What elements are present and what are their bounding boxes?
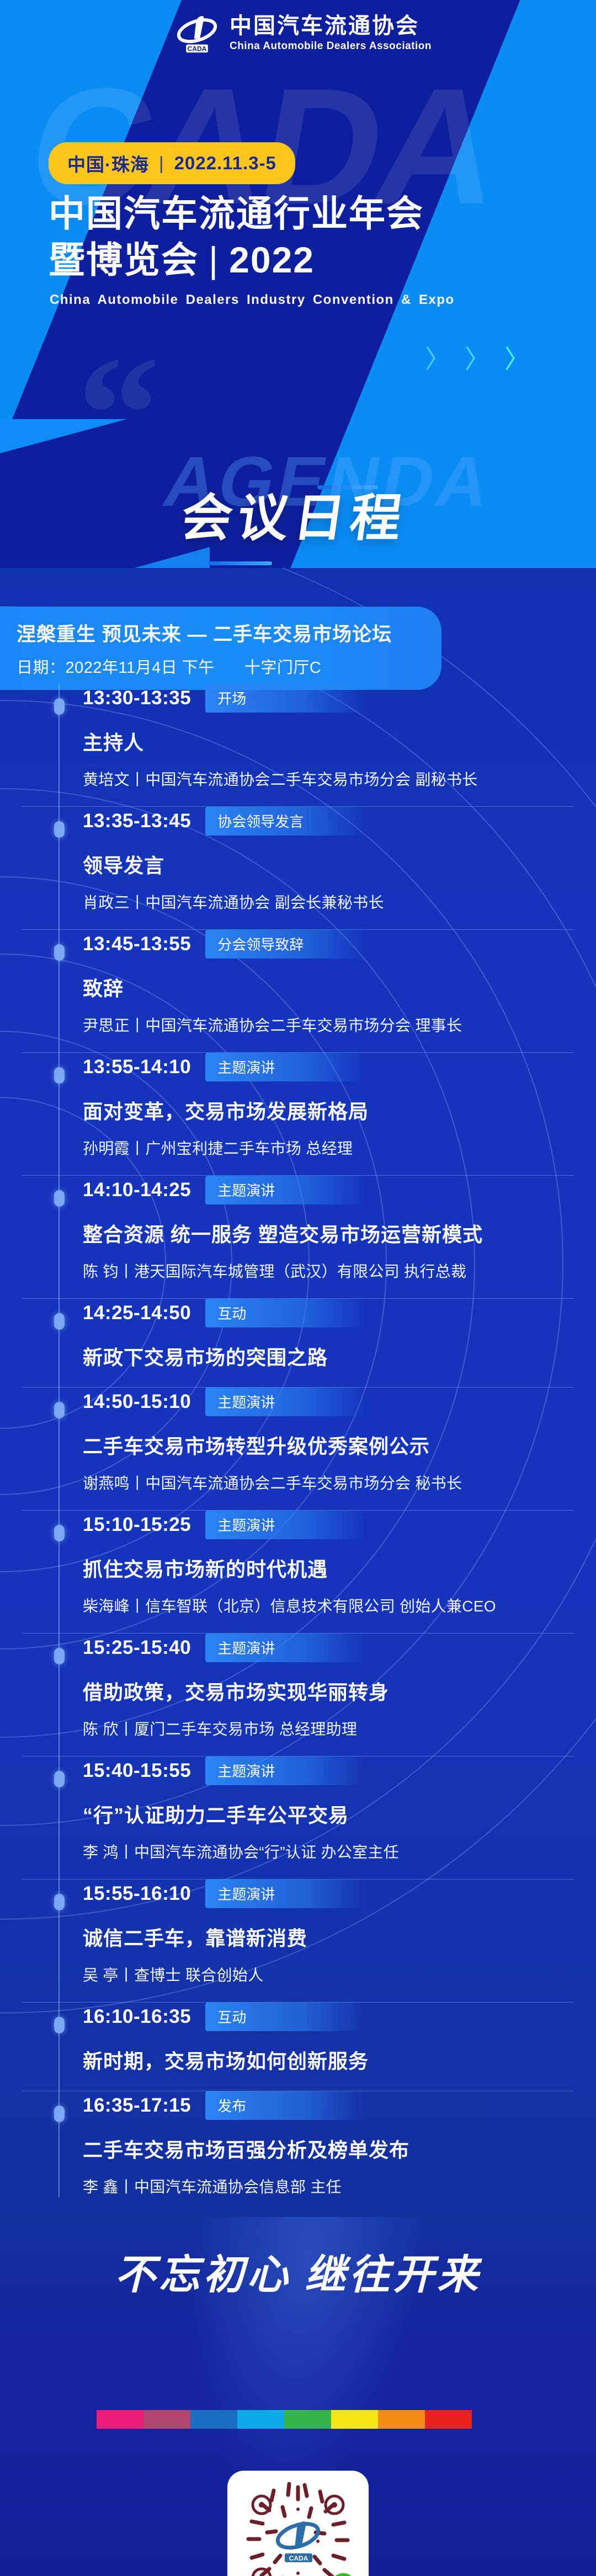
agenda-timeline: 13:30-13:35开场主持人黄培文丨中国汽车流通协会二手车交易市场分会 副秘… <box>0 684 596 2197</box>
svg-text:CADA: CADA <box>188 45 207 53</box>
agenda-item-header: 13:45-13:55分会领导致辞 <box>83 930 596 958</box>
agenda-item-time: 13:45-13:55 <box>83 933 191 955</box>
timeline-dot <box>54 2017 65 2033</box>
brand-name-en: China Automobile Dealers Association <box>230 41 432 51</box>
agenda-item-topic: 新时期，交易市场如何创新服务 <box>83 2045 596 2074</box>
agenda-item-header: 15:40-15:55主题演讲 <box>83 1756 596 1785</box>
event-title-line1: 中国汽车流通行业年会 <box>49 190 424 237</box>
agenda-item-time: 16:10-16:35 <box>83 2006 191 2028</box>
date-location-badge: 中国·珠海 | 2022.11.3-5 <box>49 142 295 184</box>
chevron-right-icon-1: 〉 <box>425 346 450 372</box>
qr-code-card[interactable]: CADA <box>227 2471 369 2576</box>
agenda-item: 13:45-13:55分会领导致辞致辞尹思正丨中国汽车流通协会二手车交易市场分会… <box>0 930 596 1036</box>
hero-banner: CADA “ CADA 中国汽车流通协会 China Automobile De… <box>0 0 596 568</box>
svg-text:CADA: CADA <box>289 2554 308 2562</box>
agenda-item: 15:25-15:40主题演讲借助政策，交易市场实现华丽转身陈 欣丨厦门二手车交… <box>0 1634 596 1739</box>
agenda-title-cn: 会议日程 <box>177 477 413 550</box>
agenda-item-topic: 借助政策，交易市场实现华丽转身 <box>83 1677 596 1705</box>
agenda-item-speaker: 李 鑫丨中国汽车流通协会信息部 主任 <box>83 2175 596 2197</box>
timeline-dot <box>54 1894 65 1910</box>
timeline-dot <box>54 1313 65 1330</box>
color-bar-segment-5 <box>284 2410 331 2429</box>
color-bar-segment-7 <box>378 2410 425 2429</box>
timeline-dot <box>54 1067 65 1084</box>
forum-venue: 十字门厅C <box>244 655 321 678</box>
wechat-miniprogram-icon[interactable] <box>330 2573 356 2576</box>
footer-section: 不忘初心 继往开来 <box>0 2217 596 2576</box>
color-bar-decoration <box>97 2410 472 2429</box>
agenda-item-tag: 互动 <box>205 1299 365 1327</box>
color-bar-segment-4 <box>237 2410 284 2429</box>
timeline-dot <box>54 1648 65 1664</box>
agenda-item-topic: 致辞 <box>83 973 596 1002</box>
agenda-item-speaker: 陈 欣丨厦门二手车交易市场 总经理助理 <box>83 1717 596 1739</box>
agenda-item-time: 14:10-14:25 <box>83 1179 191 1201</box>
color-bar-segment-2 <box>143 2410 190 2429</box>
timeline-dot <box>54 698 65 715</box>
agenda-item-tag: 协会领导发言 <box>205 807 365 836</box>
brand-header: CADA 中国汽车流通协会 China Automobile Dealers A… <box>0 0 596 66</box>
agenda-item-header: 13:55-14:10主题演讲 <box>83 1053 596 1081</box>
agenda-item-topic: 诚信二手车，靠谱新消费 <box>83 1922 596 1951</box>
event-title-line2: 暨博览会 <box>49 237 199 283</box>
agenda-item-header: 14:10-14:25主题演讲 <box>83 1176 596 1204</box>
agenda-item-time: 15:55-16:10 <box>83 1883 191 1905</box>
agenda-item-tag: 主题演讲 <box>205 1053 365 1081</box>
agenda-item-tag: 主题演讲 <box>205 1879 365 1908</box>
event-title-bar: | <box>209 237 219 283</box>
agenda-item-speaker: 谢燕鸣丨中国汽车流通协会二手车交易市场分会 秘书长 <box>83 1471 596 1493</box>
agenda-item: 13:35-13:45协会领导发言领导发言肖政三丨中国汽车流通协会 副会长兼秘书… <box>0 807 596 913</box>
agenda-item: 16:10-16:35互动新时期，交易市场如何创新服务 <box>0 2002 596 2074</box>
agenda-item-header: 14:50-15:10主题演讲 <box>83 1388 596 1416</box>
agenda-item-header: 15:25-15:40主题演讲 <box>83 1634 596 1662</box>
brand-name-cn: 中国汽车流通协会 <box>230 15 432 37</box>
agenda-item-speaker: 李 鸿丨中国汽车流通协会“行”认证 办公室主任 <box>83 1840 596 1862</box>
event-title: 中国汽车流通行业年会 暨博览会 | 2022 <box>49 190 424 283</box>
agenda-item-speaker: 孙明霞丨广州宝利捷二手车市场 总经理 <box>83 1137 596 1159</box>
footer-slogan: 不忘初心 继往开来 <box>0 2242 596 2301</box>
color-bar-segment-8 <box>425 2410 472 2429</box>
color-bar-segment-6 <box>331 2410 378 2429</box>
agenda-item-speaker: 柴海峰丨信车智联（北京）信息技术有限公司 创始人兼CEO <box>83 1594 596 1616</box>
timeline-dot <box>54 1402 65 1418</box>
chevron-right-icon-2: 〉 <box>465 346 490 372</box>
agenda-item: 16:35-17:15发布二手车交易市场百强分析及榜单发布李 鑫丨中国汽车流通协… <box>0 2091 596 2197</box>
event-title-year: 2022 <box>229 237 315 283</box>
event-subtitle-en: China Automobile Dealers Industry Conven… <box>50 292 455 308</box>
agenda-item-speaker: 陈 钧丨港天国际汽车城管理（武汉）有限公司 执行总裁 <box>83 1260 596 1282</box>
forum-date: 日期：2022年11月4日 下午 <box>17 655 215 678</box>
qr-code-image[interactable]: CADA <box>227 2471 369 2576</box>
timeline-dot <box>54 821 65 838</box>
agenda-item-time: 13:35-13:45 <box>83 810 191 832</box>
timeline-dot <box>54 1525 65 1541</box>
agenda-item: 14:25-14:50互动新政下交易市场的突围之路 <box>0 1299 596 1370</box>
cada-logo-icon: CADA <box>173 9 221 57</box>
agenda-item: 13:55-14:10主题演讲面对变革，交易市场发展新格局孙明霞丨广州宝利捷二手… <box>0 1053 596 1159</box>
agenda-item: 14:50-15:10主题演讲二手车交易市场转型升级优秀案例公示谢燕鸣丨中国汽车… <box>0 1388 596 1493</box>
agenda-item-tag: 分会领导致辞 <box>205 930 365 958</box>
agenda-item-topic: 新政下交易市场的突围之路 <box>83 1342 596 1370</box>
agenda-item-header: 15:10-15:25主题演讲 <box>83 1511 596 1539</box>
color-bar-segment-3 <box>190 2410 237 2429</box>
agenda-item-time: 13:30-13:35 <box>83 687 191 709</box>
agenda-item-speaker: 尹思正丨中国汽车流通协会二手车交易市场分会 理事长 <box>83 1014 596 1036</box>
agenda-item-time: 15:10-15:25 <box>83 1514 191 1536</box>
agenda-item-header: 16:10-16:35互动 <box>83 2002 596 2031</box>
chevron-group: 〉 〉 〉 <box>425 346 530 372</box>
badge-location: 中国·珠海 <box>67 150 149 176</box>
agenda-item-speaker: 肖政三丨中国汽车流通协会 副会长兼秘书长 <box>83 891 596 913</box>
agenda-item-tag: 互动 <box>205 2002 365 2031</box>
agenda-item-topic: 二手车交易市场百强分析及榜单发布 <box>83 2134 596 2163</box>
agenda-item-tag: 主题演讲 <box>205 1634 365 1662</box>
timeline-dot <box>54 1771 65 1787</box>
agenda-item-topic: 主持人 <box>83 727 596 756</box>
agenda-heading: AGENDA 会议日程 <box>0 436 596 568</box>
agenda-item-tag: 主题演讲 <box>205 1176 365 1204</box>
agenda-item-time: 13:55-14:10 <box>83 1056 191 1078</box>
badge-separator: | <box>159 153 164 174</box>
agenda-item-tag: 开场 <box>205 684 365 713</box>
agenda-item-tag: 主题演讲 <box>205 1388 365 1416</box>
agenda-item-time: 16:35-17:15 <box>83 2095 191 2117</box>
agenda-item-time: 14:50-15:10 <box>83 1391 191 1413</box>
color-bar-segment-1 <box>97 2410 143 2429</box>
forum-banner: 涅槃重生 预见未来 — 二手车交易市场论坛 日期：2022年11月4日 下午 十… <box>0 607 441 690</box>
agenda-item: 15:55-16:10主题演讲诚信二手车，靠谱新消费吴 亭丨查博士 联合创始人 <box>0 1879 596 1985</box>
agenda-item-tag: 主题演讲 <box>205 1511 365 1539</box>
agenda-item-header: 16:35-17:15发布 <box>83 2091 596 2120</box>
agenda-item-time: 14:25-14:50 <box>83 1302 191 1324</box>
agenda-item-time: 15:25-15:40 <box>83 1637 191 1659</box>
forum-title: 涅槃重生 预见未来 — 二手车交易市场论坛 <box>17 619 441 647</box>
agenda-item-topic: 整合资源 统一服务 塑造交易市场运营新模式 <box>83 1219 596 1247</box>
badge-dates: 2022.11.3-5 <box>174 153 276 174</box>
agenda-item-header: 13:30-13:35开场 <box>83 684 596 713</box>
agenda-item: 15:40-15:55主题演讲“行”认证助力二手车公平交易李 鸿丨中国汽车流通协… <box>0 1756 596 1862</box>
agenda-item-speaker: 吴 亭丨查博士 联合创始人 <box>83 1963 596 1985</box>
timeline-dot <box>54 1190 65 1207</box>
agenda-item: 15:10-15:25主题演讲抓住交易市场新的时代机遇柴海峰丨信车智联（北京）信… <box>0 1511 596 1616</box>
agenda-item-topic: “行”认证助力二手车公平交易 <box>83 1800 596 1828</box>
chevron-right-icon-3: 〉 <box>504 346 530 372</box>
agenda-item-speaker: 黄培文丨中国汽车流通协会二手车交易市场分会 副秘书长 <box>83 768 596 790</box>
timeline-dot <box>54 944 65 961</box>
agenda-item-topic: 领导发言 <box>83 850 596 879</box>
agenda-item: 14:10-14:25主题演讲整合资源 统一服务 塑造交易市场运营新模式陈 钧丨… <box>0 1176 596 1282</box>
agenda-item-tag: 发布 <box>205 2091 365 2120</box>
agenda-item-topic: 面对变革，交易市场发展新格局 <box>83 1096 596 1124</box>
agenda-item-topic: 抓住交易市场新的时代机遇 <box>83 1554 596 1582</box>
agenda-item-header: 14:25-14:50互动 <box>83 1299 596 1327</box>
agenda-item-header: 13:35-13:45协会领导发言 <box>83 807 596 836</box>
agenda-item-topic: 二手车交易市场转型升级优秀案例公示 <box>83 1431 596 1459</box>
agenda-item-tag: 主题演讲 <box>205 1756 365 1785</box>
timeline-dot <box>54 2106 65 2122</box>
agenda-item: 13:30-13:35开场主持人黄培文丨中国汽车流通协会二手车交易市场分会 副秘… <box>0 684 596 790</box>
agenda-item-time: 15:40-15:55 <box>83 1760 191 1782</box>
agenda-item-header: 15:55-16:10主题演讲 <box>83 1879 596 1908</box>
